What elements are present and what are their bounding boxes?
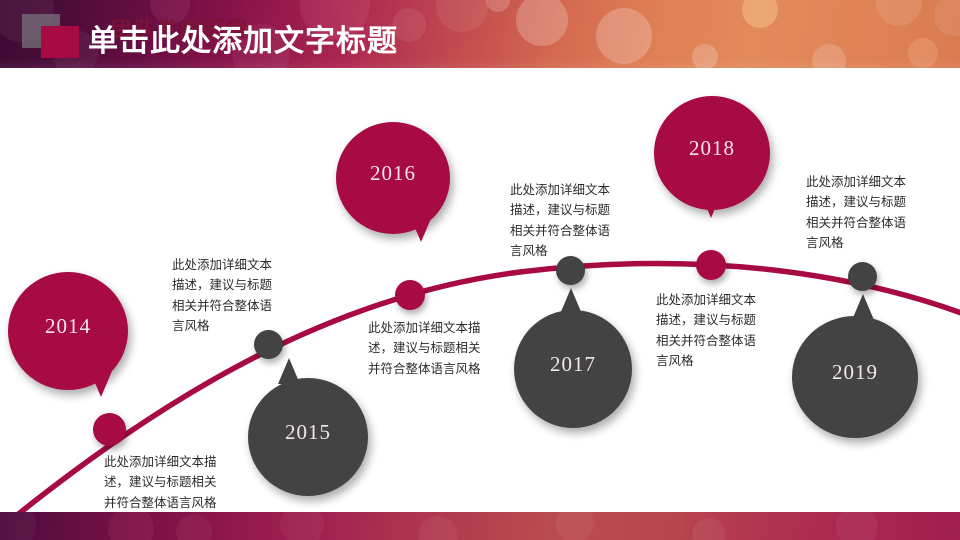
milestone-year-2015: 2015 — [285, 420, 331, 445]
milestone-bubble-2019[interactable]: 2019 — [792, 316, 918, 438]
bokeh-circle — [418, 516, 458, 540]
bokeh-circle — [280, 512, 324, 540]
timeline-node-2016[interactable] — [395, 280, 425, 310]
milestone-tail-2016 — [410, 216, 432, 242]
milestone-bubble-2015[interactable]: 2015 — [248, 378, 368, 496]
milestone-description-2018: 此处添加详细文本 描述，建议与标题 相关并符合整体语 言风格 — [656, 290, 791, 371]
milestone-year-2019: 2019 — [832, 360, 878, 385]
milestone-year-2014: 2014 — [45, 314, 91, 339]
milestone-bubble-2016[interactable]: 2016 — [336, 122, 450, 234]
timeline-node-2014[interactable] — [93, 413, 126, 446]
bokeh-circle — [692, 518, 726, 540]
bokeh-circle — [176, 514, 212, 540]
milestone-bubble-2017[interactable]: 2017 — [514, 310, 632, 428]
timeline-node-2019[interactable] — [848, 262, 877, 291]
timeline-node-2017[interactable] — [556, 256, 585, 285]
milestone-year-2017: 2017 — [550, 352, 596, 377]
timeline-node-2018[interactable] — [696, 250, 726, 280]
timeline-node-2015[interactable] — [254, 330, 283, 359]
milestone-description-2019: 此处添加详细文本 描述，建议与标题 相关并符合整体语 言风格 — [806, 172, 941, 253]
bokeh-circle — [108, 512, 154, 540]
slide-footer-bar — [0, 512, 960, 540]
milestone-description-2014: 此处添加详细文本描 述，建议与标题相关 并符合整体语言风格 — [104, 452, 274, 513]
bokeh-circle — [0, 512, 36, 540]
milestone-description-2016: 此处添加详细文本描 述，建议与标题相关 并符合整体语言风格 — [368, 318, 538, 379]
bokeh-circle — [836, 512, 878, 540]
milestone-description-2017: 此处添加详细文本 描述，建议与标题 相关并符合整体语 言风格 — [510, 180, 645, 261]
milestone-tail-2018 — [700, 192, 722, 218]
bokeh-circle — [556, 512, 594, 540]
milestone-description-2015: 此处添加详细文本 描述，建议与标题 相关并符合整体语 言风格 — [172, 255, 307, 336]
milestone-year-2018: 2018 — [689, 136, 735, 161]
milestone-tail-2014 — [90, 371, 112, 397]
slide-canvas: 团队发展历程 单击此处添加文字标题 2014 此处添加详细文本描 述，建议与标题… — [0, 0, 960, 540]
milestone-year-2016: 2016 — [370, 161, 416, 186]
